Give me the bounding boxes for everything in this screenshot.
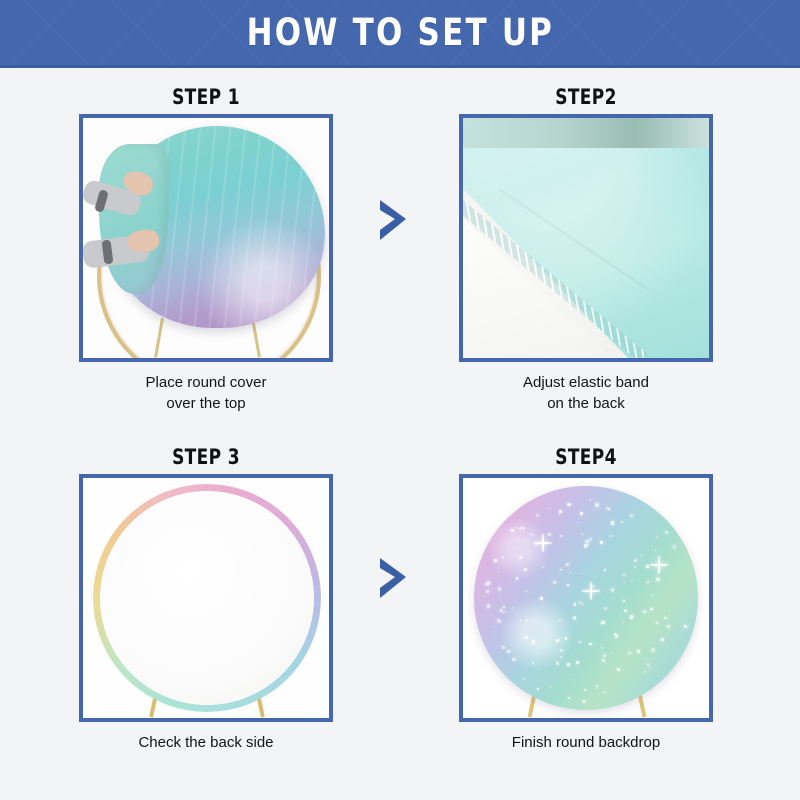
step-4-image-frame [459,474,713,722]
step-3-title: STEP 3 [71,444,341,470]
draped-fabric-edge [99,144,169,294]
step-2-caption-line-2: on the back [436,393,736,414]
step-1-image-frame [79,114,333,362]
step-2-image-frame [459,114,713,362]
background-blur-strip [463,118,709,148]
finished-round-backdrop [474,486,698,710]
step-4-title: STEP4 [451,444,721,470]
step-3-caption: Check the back side [56,732,356,753]
page-title: HOW TO SET UP [246,11,554,54]
step-2-title: STEP2 [451,84,721,110]
step-4-caption: Finish round backdrop [436,732,736,753]
step-card-2: STEP2 Adjust elastic band on the back [436,84,736,414]
step-card-1: STEP 1 Place round cover over the top [56,84,356,414]
step-3-photo [83,478,329,718]
step-1-caption-line-2: over the top [56,393,356,414]
step-4-caption-line-1: Finish round backdrop [436,732,736,753]
pastel-rim-edge [93,484,321,712]
step-card-3: STEP 3 Check the back side [56,444,356,753]
step-2-caption-line-1: Adjust elastic band [436,372,736,393]
step-2-caption: Adjust elastic band on the back [436,372,736,414]
step-1-caption-line-1: Place round cover [56,372,356,393]
step-3-image-frame [79,474,333,722]
sparkle-icon [582,582,600,600]
chevron-right-icon [378,198,408,242]
step-2-photo [463,118,709,358]
step-3-caption-line-1: Check the back side [56,732,356,753]
header-banner: HOW TO SET UP [0,0,800,68]
step-1-title: STEP 1 [71,84,341,110]
chevron-right-icon [378,556,408,600]
sparkle-icon [534,534,552,552]
step-1-photo [83,118,329,358]
step-1-caption: Place round cover over the top [56,372,356,414]
sparkle-icon [650,556,668,574]
step-card-4: STEP4 Finish round backdrop [436,444,736,753]
step-4-photo [463,478,709,718]
